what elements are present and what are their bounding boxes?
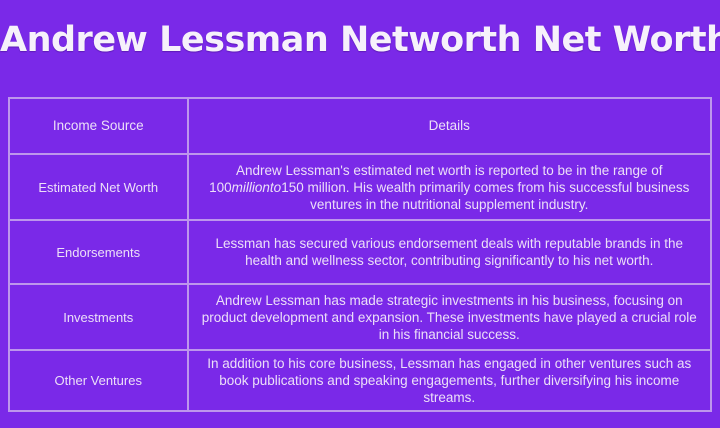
net-worth-table: Income Source Details Estimated Net Wort… bbox=[8, 97, 712, 412]
table-row: Other Ventures In addition to his core b… bbox=[9, 350, 711, 411]
table-row: Investments Andrew Lessman has made stra… bbox=[9, 284, 711, 350]
details-text-after: 150 million. His wealth primarily comes … bbox=[281, 180, 689, 212]
page-title: Andrew Lessman Networth Net Worth bbox=[0, 18, 720, 62]
column-header-details: Details bbox=[188, 98, 712, 154]
cell-income-source: Endorsements bbox=[9, 220, 188, 284]
column-header-income-source: Income Source bbox=[9, 98, 188, 154]
cell-details: Lessman has secured various endorsement … bbox=[188, 220, 712, 284]
table-row: Endorsements Lessman has secured various… bbox=[9, 220, 711, 284]
table-header: Income Source Details bbox=[9, 98, 711, 154]
table-body: Estimated Net Worth Andrew Lessman's est… bbox=[9, 154, 711, 411]
cell-details: Andrew Lessman has made strategic invest… bbox=[188, 284, 712, 350]
cell-income-source: Other Ventures bbox=[9, 350, 188, 411]
cell-income-source: Estimated Net Worth bbox=[9, 154, 188, 220]
cell-details: Andrew Lessman's estimated net worth is … bbox=[188, 154, 712, 220]
details-text-italic: millionto bbox=[232, 180, 282, 195]
table-header-row: Income Source Details bbox=[9, 98, 711, 154]
cell-details: In addition to his core business, Lessma… bbox=[188, 350, 712, 411]
cell-income-source: Investments bbox=[9, 284, 188, 350]
page-root: Andrew Lessman Networth Net Worth Income… bbox=[0, 0, 720, 428]
table-row: Estimated Net Worth Andrew Lessman's est… bbox=[9, 154, 711, 220]
